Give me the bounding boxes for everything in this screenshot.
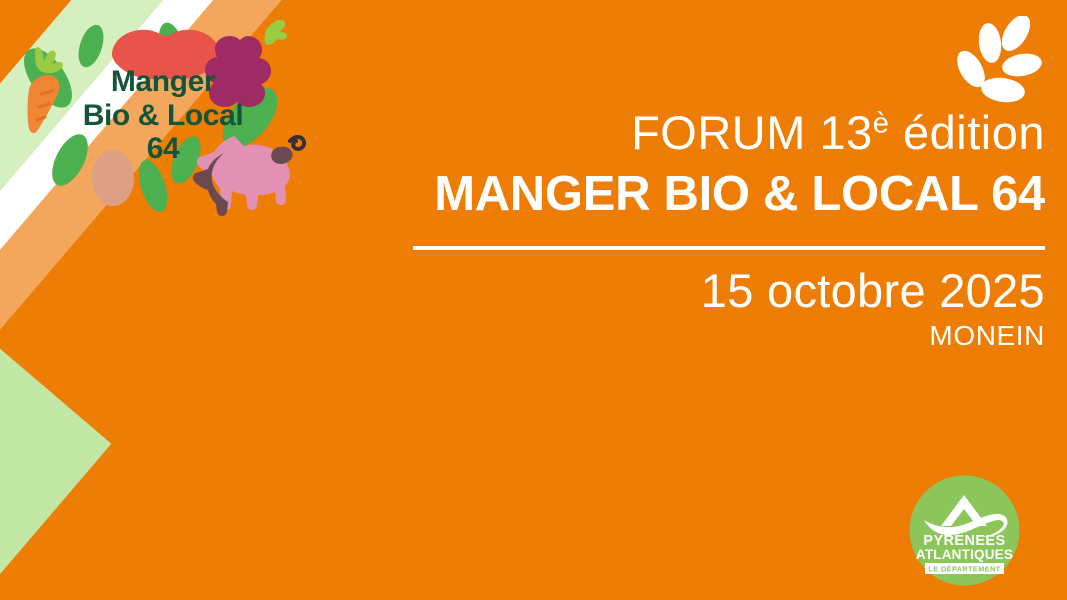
- forum-suffix: édition: [889, 106, 1045, 159]
- forum-heading: FORUM 13è édition: [395, 108, 1045, 157]
- poster-content: FORUM 13è édition MANGER BIO & LOCAL 64 …: [395, 108, 1045, 351]
- event-city: MONEIN: [395, 321, 1045, 352]
- forum-number: 13: [819, 106, 872, 159]
- dept-line-2: ATLANTIQUES: [916, 547, 1013, 562]
- event-date: 15 octobre 2025: [395, 266, 1045, 317]
- tomato-icon: [112, 30, 220, 79]
- page-title: MANGER BIO & LOCAL 64: [395, 169, 1045, 220]
- pyrenees-atlantiques-logo: PYRENEES ATLANTIQUES LE DÉPARTEMENT: [907, 473, 1022, 588]
- potato-icon: [92, 150, 134, 206]
- pig-icon: [193, 136, 304, 216]
- dept-line-3: LE DÉPARTEMENT: [928, 565, 1000, 574]
- forum-ordinal: è: [873, 107, 890, 139]
- leaf-icon: [45, 129, 95, 192]
- divider: [413, 246, 1045, 250]
- leaf-icon: [74, 22, 109, 71]
- leaf-icon: [133, 157, 173, 216]
- event-poster: Manger Bio & Local 64 FORUM 13è édition …: [0, 0, 1067, 600]
- forum-prefix: FORUM: [631, 106, 819, 159]
- manger-bio-local-64-logo: Manger Bio & Local 64: [8, 8, 318, 223]
- wheat-icon: [953, 16, 1049, 108]
